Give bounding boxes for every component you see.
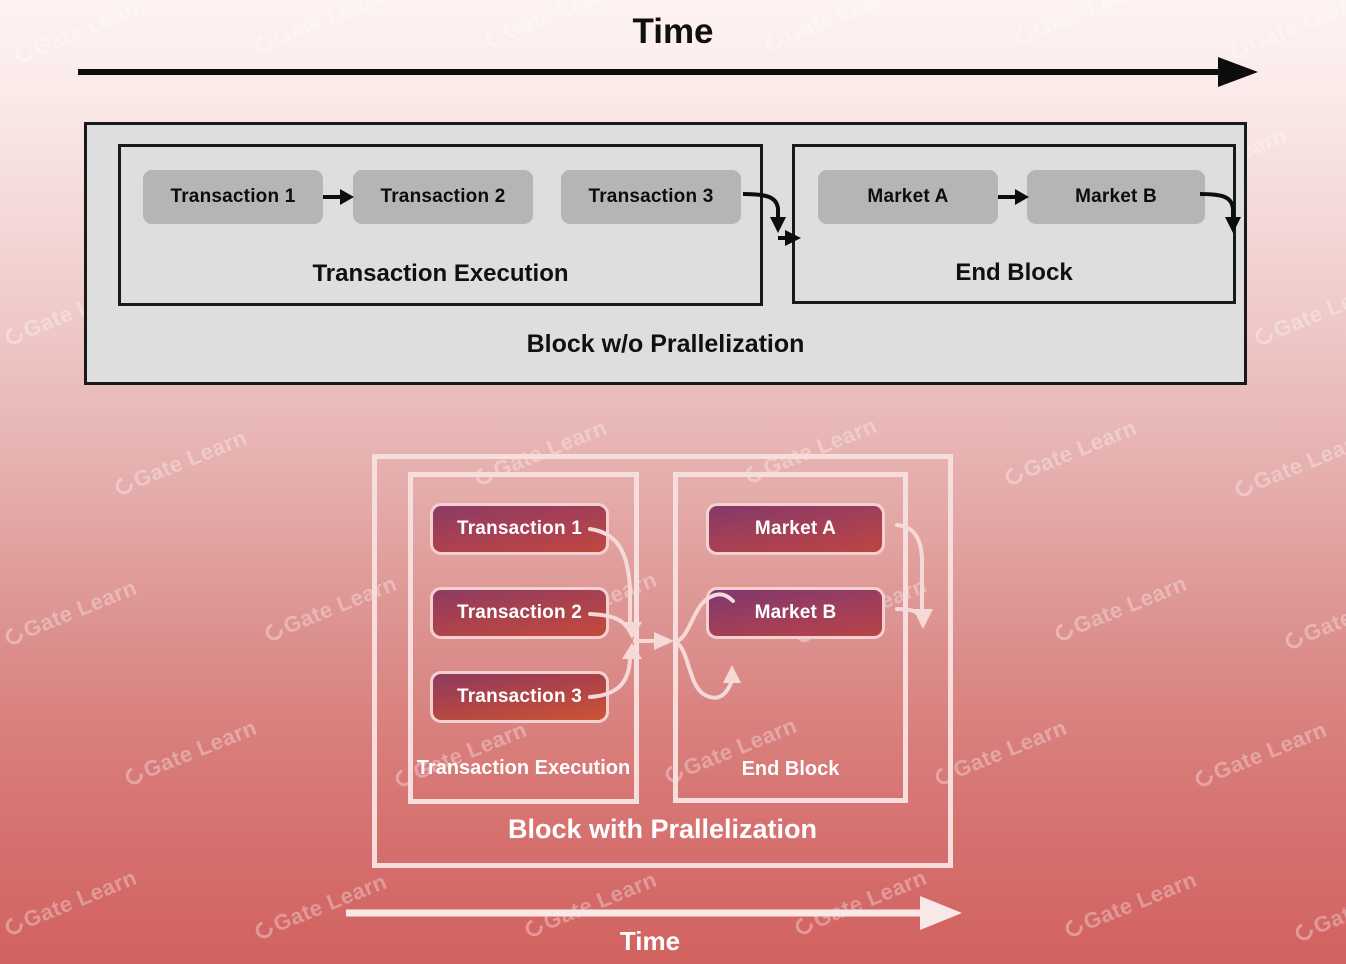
time-axis-label-bottom: Time [340,926,960,957]
watermark-38: Gate Learn [1290,871,1346,948]
gate-logo-icon [1063,916,1086,939]
gate-logo-icon [1283,628,1306,651]
time-arrow-top [70,52,1270,92]
diagram-canvas: Gate LearnGate LearnGate LearnGate Learn… [0,0,1346,964]
watermark-text: Gate Learn [130,425,251,493]
watermark-text: Gate Learn [1080,867,1201,935]
watermark-text: Gate Learn [1070,571,1191,639]
watermark-text: Gate Learn [20,575,141,643]
gate-logo-icon [3,324,26,347]
serial-transaction-execution-group: Transaction 1 Transaction 2 Transaction … [118,144,763,306]
gate-logo-icon [1053,620,1076,643]
parallel-transaction-execution-group: Transaction 1 Transaction 2 Transaction … [408,472,639,804]
gate-logo-icon [113,474,136,497]
watermark-22: Gate Learn [0,575,140,652]
parallel-block-caption: Block with Prallelization [377,814,948,845]
watermark-26: Gate Learn [1050,571,1190,648]
serial-transaction-1-box[interactable]: Transaction 1 [143,170,323,224]
parallel-transaction-execution-caption: Transaction Execution [413,757,634,780]
watermark-text: Gate Learn [140,715,261,783]
parallel-block: Transaction 1 Transaction 2 Transaction … [372,454,953,868]
serial-end-block-group: Market A Market B End Block [792,144,1236,304]
watermark-16: Gate Learn [1250,275,1346,352]
gate-logo-icon [123,764,146,787]
watermark-text: Gate Learn [950,715,1071,783]
watermark-28: Gate Learn [120,715,260,792]
watermark-text: Gate Learn [20,865,141,933]
parallel-end-block-caption: End Block [678,758,903,781]
watermark-21: Gate Learn [1230,427,1346,504]
watermark-17: Gate Learn [110,425,250,502]
arrow-market-a-to-market-b [998,183,1030,211]
serial-market-a-box[interactable]: Market A [818,170,998,224]
serial-end-block-caption: End Block [795,259,1233,287]
serial-transaction-execution-caption: Transaction Execution [121,260,760,288]
serial-market-b-box[interactable]: Market B [1027,170,1205,224]
watermark-33: Gate Learn [0,865,140,942]
watermark-text: Gate Learn [1310,871,1346,939]
parallel-market-b-box[interactable]: Market B [706,587,885,639]
gate-logo-icon [1293,920,1316,943]
watermark-27: Gate Learn [1280,579,1346,656]
gate-logo-icon [253,918,276,941]
watermark-text: Gate Learn [1020,415,1141,483]
gate-logo-icon [1193,766,1216,789]
serial-transaction-3-box[interactable]: Transaction 3 [561,170,741,224]
watermark-32: Gate Learn [1190,717,1330,794]
watermark-text: Gate Learn [1210,717,1331,785]
parallel-market-a-box[interactable]: Market A [706,503,885,555]
parallel-end-block-group: Market A Market B End Block [673,472,908,803]
arrow-transaction1-to-transaction2 [323,183,355,211]
watermark-20: Gate Learn [1000,415,1140,492]
gate-logo-icon [1003,464,1026,487]
gate-logo-icon [3,624,26,647]
gate-logo-icon [1253,324,1276,347]
watermark-text: Gate Learn [1300,579,1346,647]
serial-transaction-2-box[interactable]: Transaction 2 [353,170,533,224]
watermark-text: Gate Learn [1250,427,1346,495]
serial-block-caption: Block w/o Prallelization [87,330,1244,359]
watermark-text: Gate Learn [1270,275,1346,343]
gate-logo-icon [3,914,26,937]
time-axis-label-top: Time [0,12,1346,52]
serial-block: Transaction 1 Transaction 2 Transaction … [84,122,1247,385]
parallel-transaction-2-box[interactable]: Transaction 2 [430,587,609,639]
watermark-37: Gate Learn [1060,867,1200,944]
parallel-transaction-1-box[interactable]: Transaction 1 [430,503,609,555]
parallel-transaction-3-box[interactable]: Transaction 3 [430,671,609,723]
gate-logo-icon [1233,476,1256,499]
gate-logo-icon [263,620,286,643]
